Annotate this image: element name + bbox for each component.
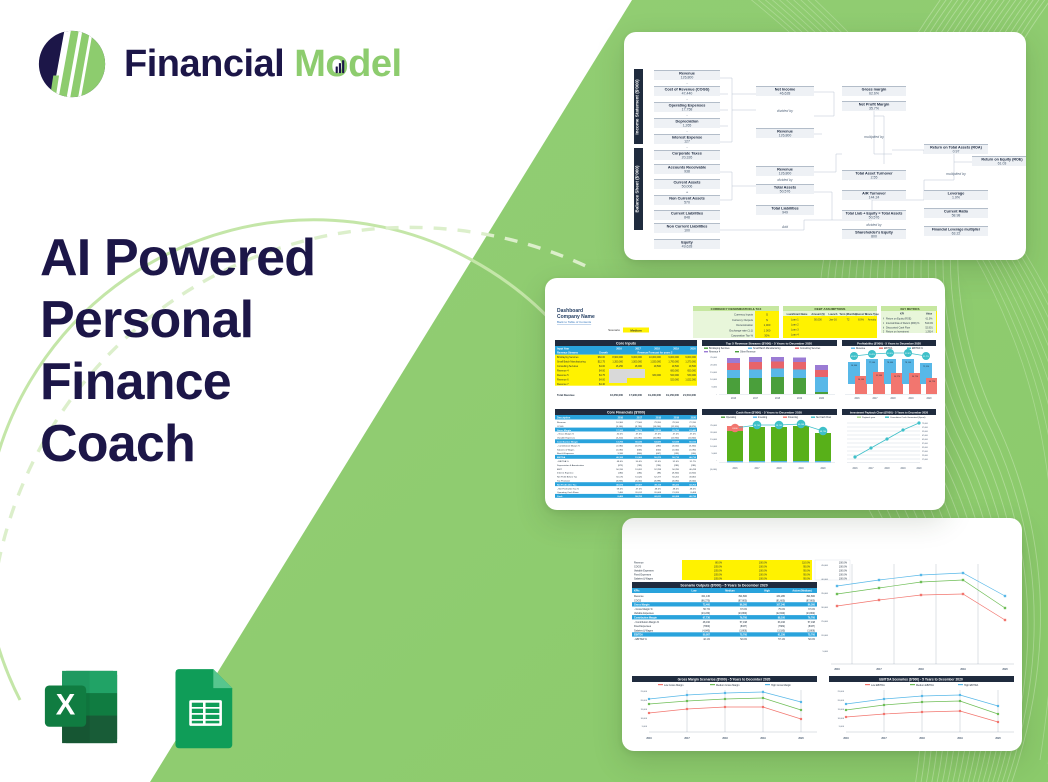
svg-text:77,500: 77,500 bbox=[869, 362, 876, 364]
svg-text:50,000: 50,000 bbox=[814, 319, 822, 322]
svg-text:10,000,000: 10,000,000 bbox=[649, 356, 662, 359]
svg-text:Medium Gross Margin: Medium Gross Margin bbox=[716, 684, 740, 687]
dupont-node: Financial Leverage multiplier 63.22 bbox=[924, 226, 988, 236]
svg-text:800: 800 bbox=[871, 235, 877, 239]
svg-text:15,000: 15,000 bbox=[710, 439, 717, 441]
svg-text:2018: 2018 bbox=[776, 468, 782, 470]
svg-text:52,838: 52,838 bbox=[672, 442, 679, 444]
table-scenario-assumptions: Revenue COGS Variable Expenses Fixed Exp… bbox=[634, 560, 850, 580]
svg-text:19,500: 19,500 bbox=[689, 365, 697, 368]
svg-text:37,000: 37,000 bbox=[922, 443, 928, 445]
chart-investment-payback: Investment Payback Chart ($'000) - 5 Yea… bbox=[842, 409, 936, 470]
svg-text:52,298: 52,298 bbox=[654, 469, 661, 471]
svg-text:95.0%: 95.0% bbox=[803, 577, 811, 580]
svg-text:Currency Outputs: Currency Outputs bbox=[732, 318, 754, 322]
svg-text:Discounted Cash Flow: Discounted Cash Flow bbox=[886, 326, 910, 329]
svg-text:530,000: 530,000 bbox=[687, 374, 696, 377]
scenario-analysis: Revenue COGS Variable Expenses Fixed Exp… bbox=[622, 518, 1022, 751]
svg-text:(1,080): (1,080) bbox=[616, 449, 623, 451]
stacked-bars bbox=[727, 357, 828, 394]
svg-text:48.0%: 48.0% bbox=[655, 488, 661, 490]
svg-text:19,400,000: 19,400,000 bbox=[648, 393, 662, 397]
svg-text:35.7%: 35.7% bbox=[869, 107, 879, 111]
svg-text:56,535: 56,535 bbox=[635, 442, 642, 444]
svg-text:Add: Add bbox=[781, 225, 788, 229]
svg-text:40.0%: 40.0% bbox=[617, 434, 623, 436]
svg-text:48.0%: 48.0% bbox=[673, 488, 679, 490]
svg-text:Medium: Medium bbox=[725, 590, 735, 593]
svg-text:20,000: 20,000 bbox=[710, 364, 717, 366]
svg-text:(1,090): (1,090) bbox=[689, 449, 696, 451]
dupont-node: Non Current Assets 570 bbox=[654, 195, 720, 205]
svg-text:95.0%: 95.0% bbox=[803, 574, 811, 577]
svg-text:(23,860): (23,860) bbox=[806, 612, 815, 615]
svg-text:2016: 2016 bbox=[646, 737, 652, 740]
brand-logo[interactable]: Financial Model bbox=[36, 28, 402, 100]
svg-text:Cumulative Cash Generated (Spe: Cumulative Cash Generated (Spent) bbox=[890, 416, 926, 419]
svg-text:58.98: 58.98 bbox=[952, 214, 961, 218]
svg-text:Low EBITDA: Low EBITDA bbox=[871, 684, 885, 687]
svg-text:20,326: 20,326 bbox=[682, 156, 693, 160]
svg-text:51,091: 51,091 bbox=[635, 469, 642, 471]
svg-text:EBITDA: EBITDA bbox=[557, 456, 566, 459]
svg-text:(180): (180) bbox=[618, 473, 623, 475]
svg-text:126,800: 126,800 bbox=[779, 172, 792, 176]
svg-text:2019: 2019 bbox=[673, 347, 679, 350]
svg-text:2018: 2018 bbox=[919, 737, 925, 740]
svg-text:Exchange rate (1:1): Exchange rate (1:1) bbox=[729, 328, 753, 332]
svg-text:-: - bbox=[686, 113, 688, 118]
svg-text:DEBT ASSUMPTIONS: DEBT ASSUMPTIONS bbox=[815, 307, 846, 311]
svg-text:25,000: 25,000 bbox=[821, 621, 828, 623]
svg-text:(796): (796) bbox=[656, 465, 661, 467]
svg-text:Contribution Margin: Contribution Margin bbox=[634, 617, 657, 620]
svg-text:(87,800): (87,800) bbox=[806, 599, 815, 602]
svg-text:20,000: 20,000 bbox=[821, 635, 828, 637]
svg-text:46,418: 46,418 bbox=[689, 469, 696, 471]
svg-text:50,006: 50,006 bbox=[682, 185, 693, 189]
svg-text:19,500: 19,500 bbox=[654, 365, 662, 368]
svg-text:- EBITDA %: - EBITDA % bbox=[557, 460, 569, 463]
svg-text:16,250: 16,250 bbox=[616, 365, 624, 368]
svg-text:930,000: 930,000 bbox=[652, 374, 661, 377]
svg-text:46,710: 46,710 bbox=[689, 456, 696, 459]
svg-text:10,000: 10,000 bbox=[838, 718, 845, 720]
svg-text:EBITDA Scenarios ($'000) - 5 Y: EBITDA Scenarios ($'000) - 5 Years to De… bbox=[879, 677, 963, 681]
svg-text:Loan 2: Loan 2 bbox=[791, 324, 799, 327]
dupont-node: Return on Total Assets (ROA) 0.97 bbox=[924, 144, 988, 154]
svg-text:100.0%: 100.0% bbox=[759, 562, 768, 565]
svg-text:321,130: 321,130 bbox=[701, 595, 710, 598]
svg-text:Revenue: Revenue bbox=[856, 348, 866, 350]
svg-text:52.0%: 52.0% bbox=[887, 353, 893, 355]
svg-text:126,800: 126,800 bbox=[779, 134, 792, 138]
svg-text:(86,270): (86,270) bbox=[701, 599, 710, 602]
svg-text:67.0%: 67.0% bbox=[808, 608, 816, 611]
svg-text:30%: 30% bbox=[764, 334, 770, 338]
svg-text:Salaries & Wages: Salaries & Wages bbox=[634, 629, 654, 632]
svg-text:47.0%: 47.0% bbox=[690, 434, 696, 436]
svg-text:63,196: 63,196 bbox=[778, 621, 786, 624]
svg-text:Corporation Tax %: Corporation Tax % bbox=[731, 334, 754, 338]
dupont-node: Operating Expenses 17,758 bbox=[654, 102, 720, 112]
dupont-node: Total Liabilities 949 bbox=[756, 205, 814, 215]
svg-text:86,300: 86,300 bbox=[808, 604, 816, 607]
svg-text:High: High bbox=[764, 590, 770, 593]
svg-text:78,100: 78,100 bbox=[905, 362, 912, 364]
svg-text:100.0%: 100.0% bbox=[839, 574, 848, 577]
svg-text:17,900,000: 17,900,000 bbox=[629, 393, 643, 397]
svg-text:52.0%: 52.0% bbox=[673, 461, 679, 463]
dupont-analysis-diagram: Income Statement ($'000) Balance Sheet (… bbox=[624, 32, 1026, 260]
svg-text:42,762: 42,762 bbox=[689, 483, 696, 486]
svg-text:48,222: 48,222 bbox=[672, 483, 679, 486]
svg-text:Internal Rate of Return (IRR): Internal Rate of Return (IRR) % bbox=[886, 322, 920, 325]
svg-text:144.24: 144.24 bbox=[869, 196, 880, 200]
svg-text:30,000: 30,000 bbox=[821, 607, 828, 609]
svg-text:10,000: 10,000 bbox=[641, 718, 648, 720]
svg-text:2018: 2018 bbox=[890, 398, 896, 400]
svg-text:Loan 4: Loan 4 bbox=[791, 334, 799, 337]
svg-text:(665): (665) bbox=[637, 449, 642, 451]
svg-text:47.0%: 47.0% bbox=[673, 434, 679, 436]
svg-text:-: - bbox=[686, 145, 688, 150]
svg-text:EBITDA: EBITDA bbox=[634, 634, 643, 637]
svg-text:680,000: 680,000 bbox=[670, 370, 679, 373]
svg-text:(7682): (7682) bbox=[778, 625, 785, 628]
svg-text:$60.00: $60.00 bbox=[598, 356, 606, 359]
dupont-node: Interest Expense 127 bbox=[654, 134, 720, 144]
svg-text:65,000: 65,000 bbox=[654, 430, 661, 432]
svg-text:50,576: 50,576 bbox=[780, 190, 791, 194]
svg-text:68,770: 68,770 bbox=[635, 430, 642, 432]
svg-text:Loan 3: Loan 3 bbox=[791, 329, 799, 332]
svg-text:X: X bbox=[56, 690, 76, 722]
svg-text:Variable Expenses: Variable Expenses bbox=[634, 612, 655, 615]
svg-text:67,730: 67,730 bbox=[703, 617, 711, 620]
svg-text:EBIT: EBIT bbox=[557, 469, 563, 471]
svg-text:2020: 2020 bbox=[916, 468, 922, 470]
svg-text:Description: Description bbox=[557, 416, 571, 419]
svg-text:47,000: 47,000 bbox=[922, 435, 928, 437]
svg-text:9,000,000: 9,000,000 bbox=[668, 356, 679, 359]
svg-text:75,700: 75,700 bbox=[740, 634, 748, 637]
svg-text:80.0%: 80.0% bbox=[715, 562, 723, 565]
svg-text:(5,000): (5,000) bbox=[710, 469, 717, 471]
svg-text:17,000: 17,000 bbox=[922, 459, 928, 461]
svg-text:High EBITDA: High EBITDA bbox=[964, 684, 979, 687]
svg-text:13,750: 13,750 bbox=[616, 442, 623, 444]
panel-key-metrics: KEY METRICS KPI Value Return on Equity (… bbox=[884, 306, 936, 334]
svg-text:Small Batch Manufacturing: Small Batch Manufacturing bbox=[557, 361, 586, 364]
svg-text:(3,350): (3,350) bbox=[689, 445, 696, 447]
dupont-node: Equity 49,628 bbox=[654, 239, 720, 249]
svg-text:(3,180): (3,180) bbox=[777, 629, 785, 632]
svg-text:75.0%: 75.0% bbox=[778, 608, 786, 611]
svg-text:Net Profit Before Tax: Net Profit Before Tax bbox=[557, 476, 578, 479]
svg-text:(81,600): (81,600) bbox=[776, 599, 785, 602]
dupont-node: Total Asset Turnover 2.55 bbox=[842, 170, 906, 180]
svg-text:126,800: 126,800 bbox=[681, 76, 694, 80]
svg-text:76,700: 76,700 bbox=[808, 617, 816, 620]
svg-text:2017: 2017 bbox=[868, 468, 874, 470]
svg-text:51,900: 51,900 bbox=[876, 375, 883, 377]
svg-text:Operating: Operating bbox=[726, 416, 737, 419]
svg-text:Gross Margin Scenarios ($'000): Gross Margin Scenarios ($'000) - 5 Years… bbox=[678, 677, 771, 681]
svg-text:$4.00: $4.00 bbox=[599, 379, 606, 382]
svg-text:Scenario Outputs ($'000) - 5 Y: Scenario Outputs ($'000) - 5 Years to De… bbox=[680, 583, 767, 587]
svg-text:50,087: 50,087 bbox=[703, 634, 711, 637]
svg-text:Amount ($): Amount ($) bbox=[811, 313, 824, 316]
svg-text:76,700: 76,700 bbox=[740, 617, 748, 620]
svg-text:2019: 2019 bbox=[798, 468, 804, 470]
svg-text:Core Inputs: Core Inputs bbox=[616, 341, 636, 345]
headline-line-3: Finance bbox=[40, 352, 440, 414]
svg-text:Consulting Services: Consulting Services bbox=[800, 347, 821, 350]
svg-text:61.0%: 61.0% bbox=[926, 317, 934, 320]
svg-text:2016: 2016 bbox=[732, 468, 738, 470]
svg-text:Loan 1: Loan 1 bbox=[791, 319, 799, 322]
svg-text:52.0%: 52.0% bbox=[655, 461, 661, 463]
chart-revenue-scenarios: 45,000 40,000 35,000 30,000 25,000 20,00… bbox=[821, 564, 1014, 671]
dupont-node: Non Current Liabilities 100 bbox=[654, 223, 720, 233]
svg-text:110.0%: 110.0% bbox=[802, 562, 811, 565]
svg-text:61.03: 61.03 bbox=[998, 162, 1007, 166]
svg-text:(480): (480) bbox=[656, 445, 661, 447]
svg-text:Revenue: Revenue bbox=[557, 422, 567, 424]
svg-text:Fixed Expenses: Fixed Expenses bbox=[634, 574, 652, 577]
svg-text:52.4%: 52.4% bbox=[905, 353, 911, 355]
svg-text:434,280: 434,280 bbox=[776, 595, 785, 598]
svg-text:46,628: 46,628 bbox=[780, 92, 791, 96]
svg-text:Revenue 4: Revenue 4 bbox=[709, 352, 721, 354]
svg-text:Net Profit after Tax: Net Profit after Tax bbox=[557, 483, 577, 486]
screenshot-card-dupont-tree[interactable]: Income Statement ($'000) Balance Sheet (… bbox=[624, 32, 1026, 260]
svg-text:Back to Table of Contents: Back to Table of Contents bbox=[557, 320, 592, 324]
svg-text:Launch: Launch bbox=[829, 313, 838, 316]
svg-text:54,820: 54,820 bbox=[654, 441, 661, 444]
svg-text:2019: 2019 bbox=[908, 398, 914, 400]
svg-text:Consulting Services: Consulting Services bbox=[557, 365, 579, 368]
svg-text:Financing: Financing bbox=[788, 417, 799, 419]
svg-text:15,000: 15,000 bbox=[641, 709, 648, 711]
svg-text:Loan/Grant Name: Loan/Grant Name bbox=[787, 313, 808, 316]
svg-text:50,910: 50,910 bbox=[689, 442, 696, 444]
svg-text:2020: 2020 bbox=[798, 737, 804, 740]
svg-text:100.0%: 100.0% bbox=[839, 562, 848, 565]
svg-text:divided by: divided by bbox=[777, 178, 793, 182]
dupont-node: Cost of Revenue (COGS) 47,440 bbox=[654, 86, 720, 96]
svg-text:(8337): (8337) bbox=[740, 625, 747, 628]
svg-text:Net Cash Flow: Net Cash Flow bbox=[816, 416, 831, 419]
svg-text:KPI: KPI bbox=[900, 313, 904, 316]
svg-text:15,000: 15,000 bbox=[710, 372, 717, 374]
svg-text:73,460: 73,460 bbox=[703, 604, 711, 607]
svg-text:50,710: 50,710 bbox=[912, 376, 919, 378]
svg-text:78,100: 78,100 bbox=[672, 422, 679, 424]
svg-text:COGS: COGS bbox=[634, 599, 641, 602]
svg-text:Scenario: Scenario bbox=[608, 328, 620, 332]
dupont-node-roe: Return on Equity (ROE) 61.03 bbox=[972, 156, 1026, 166]
svg-text:52.0%: 52.0% bbox=[808, 638, 816, 641]
microsoft-excel-icon[interactable]: X bbox=[38, 664, 124, 750]
svg-text:1.2914: 1.2914 bbox=[925, 331, 933, 334]
svg-text:91,336: 91,336 bbox=[778, 634, 786, 637]
svg-text:47,440: 47,440 bbox=[682, 92, 693, 96]
svg-text:Revenue: Revenue bbox=[634, 595, 644, 598]
svg-text:2019: 2019 bbox=[900, 468, 906, 470]
svg-text:650,000: 650,000 bbox=[687, 370, 696, 373]
svg-text:2017: 2017 bbox=[684, 737, 690, 740]
svg-text:50,290: 50,290 bbox=[672, 469, 679, 471]
svg-text:-: - bbox=[686, 81, 688, 86]
svg-text:(1,820): (1,820) bbox=[689, 473, 696, 475]
svg-text:- Gross Margin %: - Gross Margin % bbox=[557, 433, 574, 436]
svg-text:77,500: 77,500 bbox=[635, 422, 642, 424]
google-sheets-icon[interactable] bbox=[160, 664, 246, 750]
svg-text:46,710: 46,710 bbox=[929, 381, 936, 383]
svg-text:60,208: 60,208 bbox=[672, 496, 679, 498]
svg-text:394,800: 394,800 bbox=[738, 595, 747, 598]
brand-word-model: Model bbox=[294, 43, 401, 85]
svg-text:105.0%: 105.0% bbox=[714, 570, 723, 573]
screenshot-card-scenarios[interactable]: Revenue COGS Variable Expenses Fixed Exp… bbox=[622, 518, 1022, 751]
svg-text:Jan-16: Jan-16 bbox=[829, 319, 837, 322]
svg-text:49,119: 49,119 bbox=[654, 483, 661, 486]
svg-text:Medium EBITDA: Medium EBITDA bbox=[916, 684, 934, 687]
svg-text:1,000: 1,000 bbox=[764, 323, 771, 327]
svg-text:72,310: 72,310 bbox=[689, 422, 696, 424]
dupont-node: Leverage 1.9% bbox=[924, 190, 988, 200]
svg-text:49,628: 49,628 bbox=[682, 245, 693, 249]
svg-text:-: - bbox=[686, 97, 688, 102]
dupont-node: Net Profit Margin 35.7% bbox=[842, 101, 906, 111]
svg-text:(8,300): (8,300) bbox=[672, 473, 679, 475]
dupont-node: Current Ratio 58.98 bbox=[924, 208, 988, 218]
svg-text:5,000: 5,000 bbox=[712, 453, 718, 455]
svg-text:(184): (184) bbox=[637, 473, 642, 475]
svg-text:5,000: 5,000 bbox=[823, 651, 829, 653]
svg-text:(22,840): (22,840) bbox=[776, 612, 785, 615]
svg-text:72,000: 72,000 bbox=[922, 423, 928, 425]
svg-text:100.0%: 100.0% bbox=[839, 566, 848, 569]
chart-cash-flow: Cash flow ($'000) - 5 Years to December … bbox=[702, 409, 837, 471]
svg-text:(23,860): (23,860) bbox=[738, 612, 747, 615]
svg-text:(88): (88) bbox=[657, 473, 661, 475]
svg-text:Fixed Expenses: Fixed Expenses bbox=[634, 625, 652, 628]
svg-text:15,000: 15,000 bbox=[838, 709, 845, 711]
svg-text:78,400: 78,400 bbox=[887, 362, 894, 364]
svg-text:72,310: 72,310 bbox=[923, 366, 930, 368]
svg-text:19,150,000: 19,150,000 bbox=[666, 393, 680, 397]
svg-text:25,000: 25,000 bbox=[641, 691, 648, 693]
svg-text:(1,060): (1,060) bbox=[672, 449, 679, 451]
svg-text:2017: 2017 bbox=[637, 416, 643, 419]
brand-wordmark: Financial Model bbox=[124, 45, 402, 83]
svg-text:2019: 2019 bbox=[760, 737, 766, 740]
svg-text:100.0%: 100.0% bbox=[759, 574, 768, 577]
financial-dashboard: Dashboard Company Name Back to Table of … bbox=[545, 278, 945, 510]
svg-text:48,736: 48,736 bbox=[820, 431, 827, 433]
svg-text:544.0%: 544.0% bbox=[925, 322, 934, 325]
svg-text:(5,670): (5,670) bbox=[635, 445, 642, 447]
svg-text:58.0%: 58.0% bbox=[617, 488, 623, 490]
svg-text:20,000: 20,000 bbox=[710, 432, 717, 434]
svg-text:Revenue 5: Revenue 5 bbox=[557, 374, 569, 377]
svg-text:(87,800): (87,800) bbox=[738, 599, 747, 602]
svg-text:Core Financials ($'000): Core Financials ($'000) bbox=[607, 410, 645, 414]
svg-text:50,710: 50,710 bbox=[672, 457, 679, 459]
svg-text:Income Statement ($'000): Income Statement ($'000) bbox=[635, 79, 640, 135]
table-scenario-outputs: Scenario Outputs ($'000) - 5 Years to De… bbox=[632, 582, 817, 641]
svg-text:2020: 2020 bbox=[690, 347, 696, 350]
svg-text:105.0%: 105.0% bbox=[714, 566, 723, 569]
svg-text:2016: 2016 bbox=[852, 468, 858, 470]
supported-apps: X bbox=[38, 664, 246, 750]
svg-text:20,000: 20,000 bbox=[641, 700, 648, 702]
svg-text:57,000: 57,000 bbox=[922, 427, 928, 429]
svg-text:divided by: divided by bbox=[777, 109, 793, 113]
svg-text:$4.00: $4.00 bbox=[599, 370, 606, 373]
svg-text:- Contribution Margin %: - Contribution Margin % bbox=[634, 621, 660, 624]
svg-text:Variable Expenses: Variable Expenses bbox=[557, 437, 576, 440]
svg-text:52,901: 52,901 bbox=[925, 326, 933, 329]
svg-text:86,300: 86,300 bbox=[740, 604, 748, 607]
screenshot-card-dashboard[interactable]: Dashboard Company Name Back to Table of … bbox=[545, 278, 945, 510]
svg-text:$4.75: $4.75 bbox=[599, 374, 606, 377]
svg-text:Salaries & Wages: Salaries & Wages bbox=[634, 577, 654, 580]
svg-text:949: 949 bbox=[782, 211, 788, 215]
svg-text:2016: 2016 bbox=[843, 737, 849, 740]
page-title: AI Powered Personal Finance Coach bbox=[40, 228, 440, 476]
svg-text:51,520: 51,520 bbox=[635, 477, 642, 479]
svg-text:58,705: 58,705 bbox=[776, 425, 783, 427]
svg-text:(789): (789) bbox=[637, 465, 642, 467]
svg-text:47,667: 47,667 bbox=[635, 483, 642, 486]
svg-text:Value: Value bbox=[926, 313, 933, 316]
svg-text:45,000: 45,000 bbox=[821, 565, 828, 567]
svg-text:25,000: 25,000 bbox=[710, 425, 717, 427]
svg-text:27,000: 27,000 bbox=[922, 451, 928, 453]
svg-text:17,160: 17,160 bbox=[616, 430, 623, 432]
panel-debt: DEBT ASSUMPTIONS Loan/Grant Name Amount … bbox=[783, 306, 879, 338]
svg-text:(3,806): (3,806) bbox=[739, 629, 747, 632]
brand-word-financial: Financial bbox=[124, 43, 284, 85]
svg-text:Revenue 7: Revenue 7 bbox=[557, 383, 569, 386]
svg-text:-: - bbox=[716, 394, 717, 396]
svg-text:Gross Margin: Gross Margin bbox=[634, 604, 650, 607]
svg-text:Investment Payback Chart ($'00: Investment Payback Chart ($'000) - 5 Yea… bbox=[850, 410, 929, 414]
svg-text:1,350,000: 1,350,000 bbox=[612, 361, 623, 364]
hero-left-panel: Financial Model AI Powered Personal Fina… bbox=[0, 0, 470, 782]
svg-text:8,400: 8,400 bbox=[618, 495, 624, 498]
svg-text:1,500,000: 1,500,000 bbox=[631, 361, 642, 364]
svg-text:16,300: 16,300 bbox=[616, 422, 623, 424]
svg-text:1.000: 1.000 bbox=[764, 328, 771, 332]
svg-text:Contribution Margin: Contribution Margin bbox=[557, 441, 579, 444]
svg-text:8,900,000: 8,900,000 bbox=[612, 356, 623, 359]
svg-text:47.0%: 47.0% bbox=[636, 434, 642, 436]
svg-text:COGS: COGS bbox=[634, 566, 641, 569]
svg-text:42,000: 42,000 bbox=[922, 439, 928, 441]
svg-text:16,250,000: 16,250,000 bbox=[610, 393, 624, 397]
svg-text:32,000: 32,000 bbox=[922, 447, 928, 449]
svg-text:10,000: 10,000 bbox=[710, 446, 717, 448]
svg-text:60,011: 60,011 bbox=[654, 496, 661, 498]
svg-text:2019: 2019 bbox=[960, 668, 966, 671]
svg-text:KEY METRICS: KEY METRICS bbox=[900, 307, 919, 311]
chart-gross-margin-scenarios: Gross Margin Scenarios ($'000) - 5 Years… bbox=[632, 676, 817, 740]
